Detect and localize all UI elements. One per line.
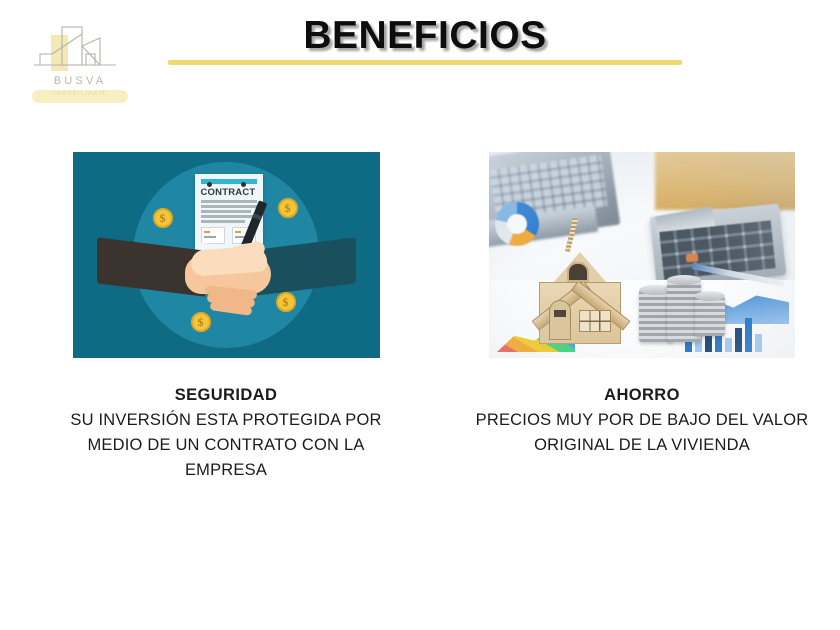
benefit-caption-seguridad: SEGURIDAD SU INVERSIÓN ESTA PROTEGIDA PO… <box>46 383 406 483</box>
benefit-card-seguridad: CONTRACT <box>46 152 406 483</box>
wooden-house-model <box>527 224 635 344</box>
wood-panel <box>655 152 795 210</box>
coin-stack <box>695 296 725 336</box>
coin-icon: $ <box>278 198 298 218</box>
left-cuff-button <box>207 182 212 187</box>
house-attic-window <box>567 262 589 282</box>
logo-tagline-pill: INMOBILIARIA <box>32 90 128 103</box>
house-chimney <box>565 218 578 252</box>
photo-background <box>489 152 795 358</box>
right-cuff-button <box>241 182 246 187</box>
building-outline-icon <box>30 24 130 76</box>
calculator-accent-key <box>686 253 699 262</box>
handshake-contract-illustration: CONTRACT <box>73 152 380 358</box>
contract-label: CONTRACT <box>201 187 257 198</box>
illustration-background: CONTRACT <box>73 152 380 358</box>
coin-icon: $ <box>191 312 211 332</box>
house-coins-calculator-photo <box>489 152 795 358</box>
coin-icon: $ <box>276 292 296 312</box>
brand-logo: BUSVA INMOBILIARIA <box>24 24 136 104</box>
benefit-title: AHORRO <box>462 383 822 408</box>
benefit-body: SU INVERSIÓN ESTA PROTEGIDA POR MEDIO DE… <box>46 408 406 483</box>
page-title: BENEFICIOS <box>168 14 682 58</box>
house-door <box>549 300 571 340</box>
logo-wordmark: BUSVA <box>24 75 136 87</box>
benefit-caption-ahorro: AHORRO PRECIOS MUY POR DE BAJO DEL VALOR… <box>462 383 822 458</box>
benefit-title: SEGURIDAD <box>46 383 406 408</box>
benefit-body: PRECIOS MUY POR DE BAJO DEL VALOR ORIGIN… <box>462 408 822 458</box>
title-underline-rule <box>168 60 682 65</box>
benefit-card-ahorro: AHORRO PRECIOS MUY POR DE BAJO DEL VALOR… <box>462 152 822 458</box>
coin-icon: $ <box>153 208 173 228</box>
logo-tagline: INMOBILIARIA <box>32 91 128 97</box>
house-window <box>579 310 611 332</box>
